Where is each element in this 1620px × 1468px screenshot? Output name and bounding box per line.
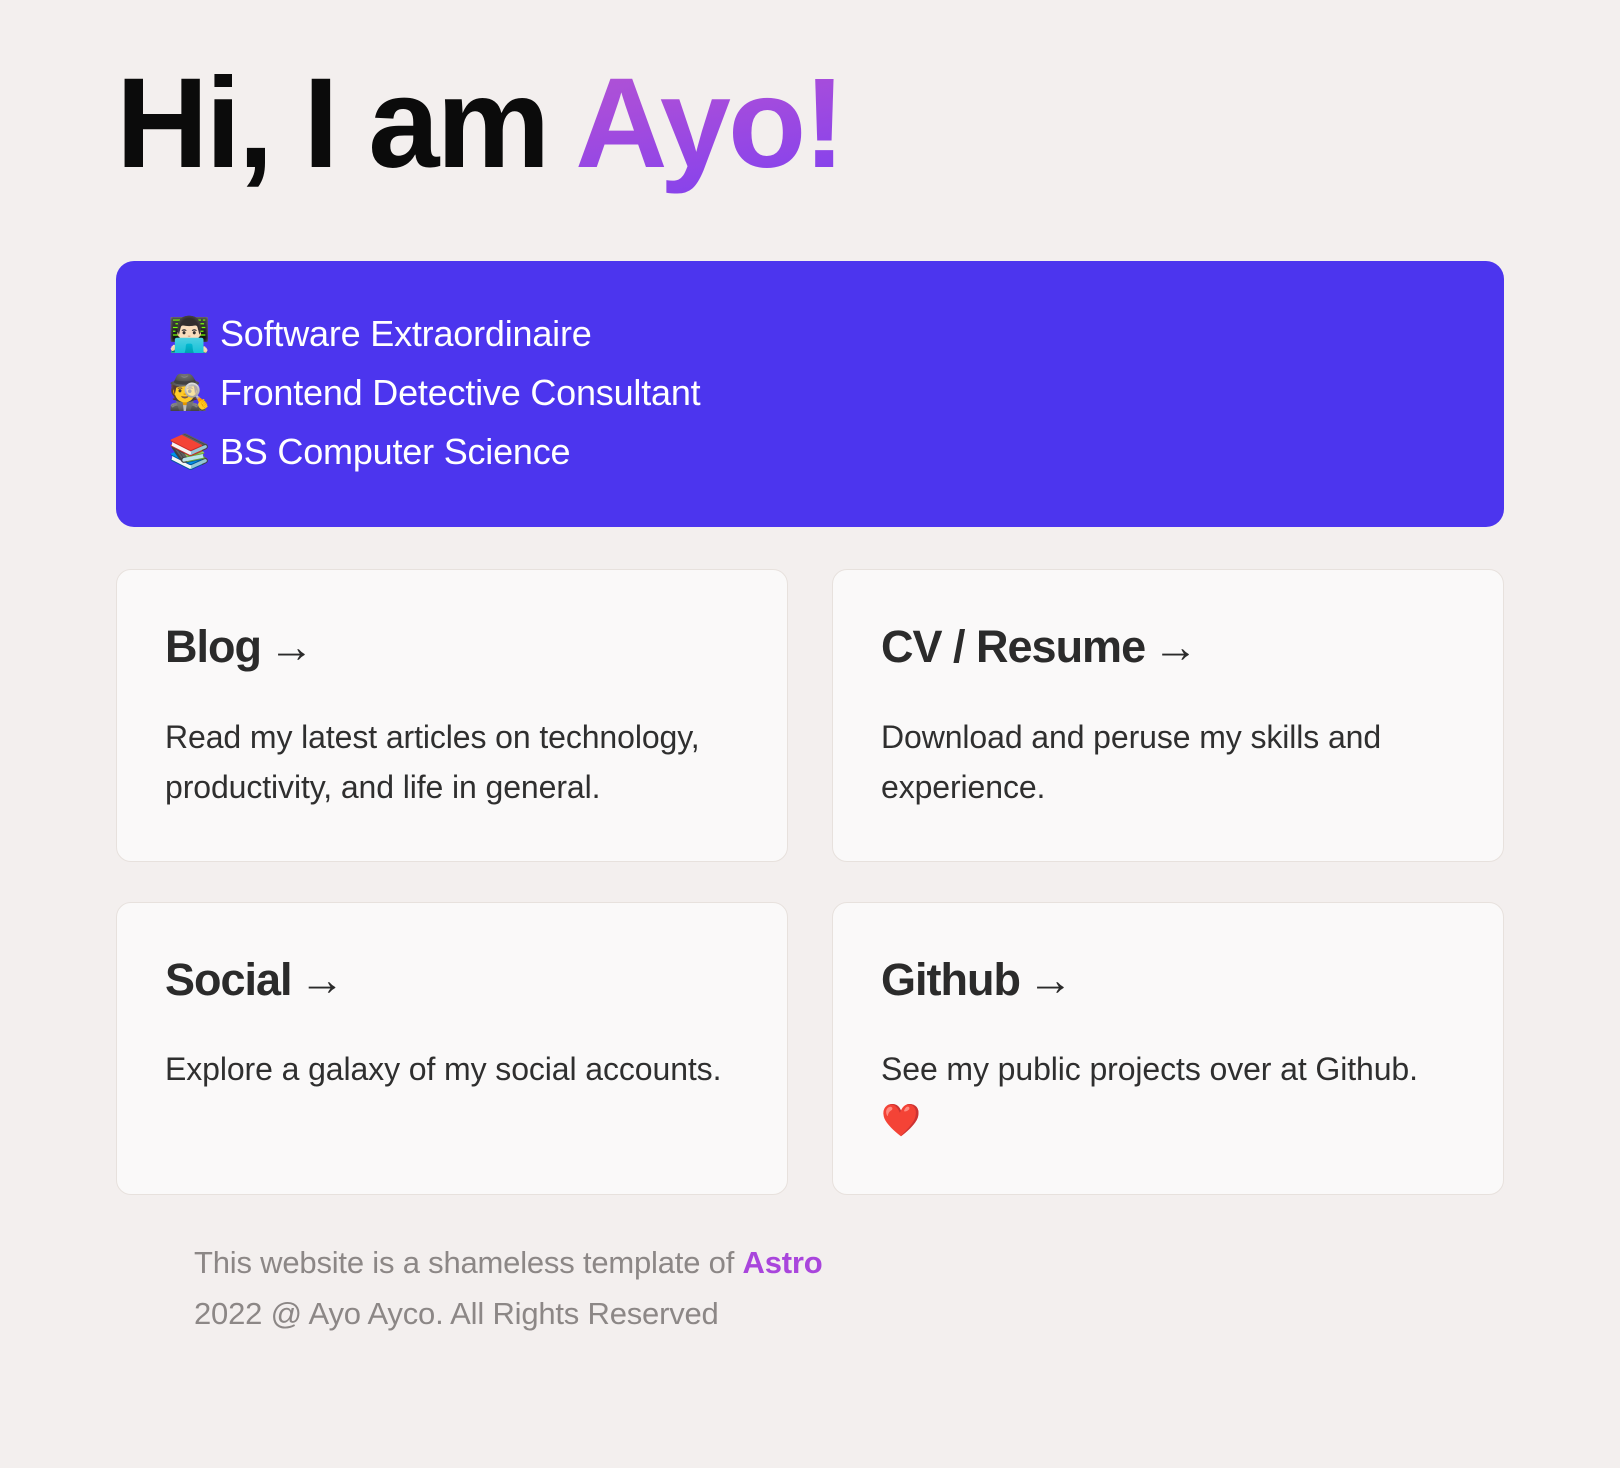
card-description: Read my latest articles on technology, p…: [165, 712, 739, 813]
card-description: See my public projects over at Github. ❤…: [881, 1044, 1455, 1145]
card-title: Github→: [881, 955, 1455, 1005]
link-card-grid: Blog→ Read my latest articles on technol…: [116, 569, 1504, 1194]
card-description: Explore a galaxy of my social accounts.: [165, 1044, 739, 1095]
card-title-text: Github: [881, 954, 1020, 1005]
arrow-right-icon: →: [1020, 954, 1072, 1005]
role-item-label: Frontend Detective Consultant: [220, 364, 700, 423]
technologist-emoji: 👨🏻‍💻: [168, 318, 220, 352]
role-item-label: Software Extraordinaire: [220, 305, 592, 364]
role-item-label: BS Computer Science: [220, 423, 570, 482]
card-title: Social→: [165, 955, 739, 1005]
arrow-right-icon: →: [261, 621, 313, 672]
arrow-right-icon: →: [1145, 621, 1197, 672]
card-title: CV / Resume→: [881, 622, 1455, 672]
card-blog[interactable]: Blog→ Read my latest articles on technol…: [116, 569, 788, 862]
role-item: 🕵️ Frontend Detective Consultant: [168, 364, 1452, 423]
detective-emoji: 🕵️: [168, 376, 220, 410]
card-title-text: Social: [165, 954, 292, 1005]
homepage: Hi, I am Ayo! 👨🏻‍💻 Software Extraordinai…: [0, 0, 1620, 1468]
footer-credit-prefix: This website is a shameless template of: [194, 1245, 743, 1280]
hero-greeting: Hi, I am: [116, 52, 575, 195]
role-item: 👨🏻‍💻 Software Extraordinaire: [168, 305, 1452, 364]
page-title: Hi, I am Ayo!: [116, 0, 1504, 195]
roles-list: 👨🏻‍💻 Software Extraordinaire 🕵️ Frontend…: [168, 305, 1452, 481]
card-title: Blog→: [165, 622, 739, 672]
footer-credit-line: This website is a shameless template of …: [194, 1237, 1504, 1288]
role-item: 📚 BS Computer Science: [168, 423, 1452, 482]
roles-panel: 👨🏻‍💻 Software Extraordinaire 🕵️ Frontend…: [116, 261, 1504, 527]
books-emoji: 📚: [168, 435, 220, 469]
card-title-text: Blog: [165, 621, 261, 672]
astro-link[interactable]: Astro: [743, 1245, 823, 1280]
card-title-text: CV / Resume: [881, 621, 1145, 672]
hero-name: Ayo!: [575, 52, 843, 195]
card-cv-resume[interactable]: CV / Resume→ Download and peruse my skil…: [832, 569, 1504, 862]
page-footer: This website is a shameless template of …: [116, 1237, 1504, 1339]
arrow-right-icon: →: [292, 954, 344, 1005]
card-social[interactable]: Social→ Explore a galaxy of my social ac…: [116, 902, 788, 1195]
card-github[interactable]: Github→ See my public projects over at G…: [832, 902, 1504, 1195]
card-description: Download and peruse my skills and experi…: [881, 712, 1455, 813]
footer-copyright: 2022 @ Ayo Ayco. All Rights Reserved: [194, 1288, 1504, 1339]
